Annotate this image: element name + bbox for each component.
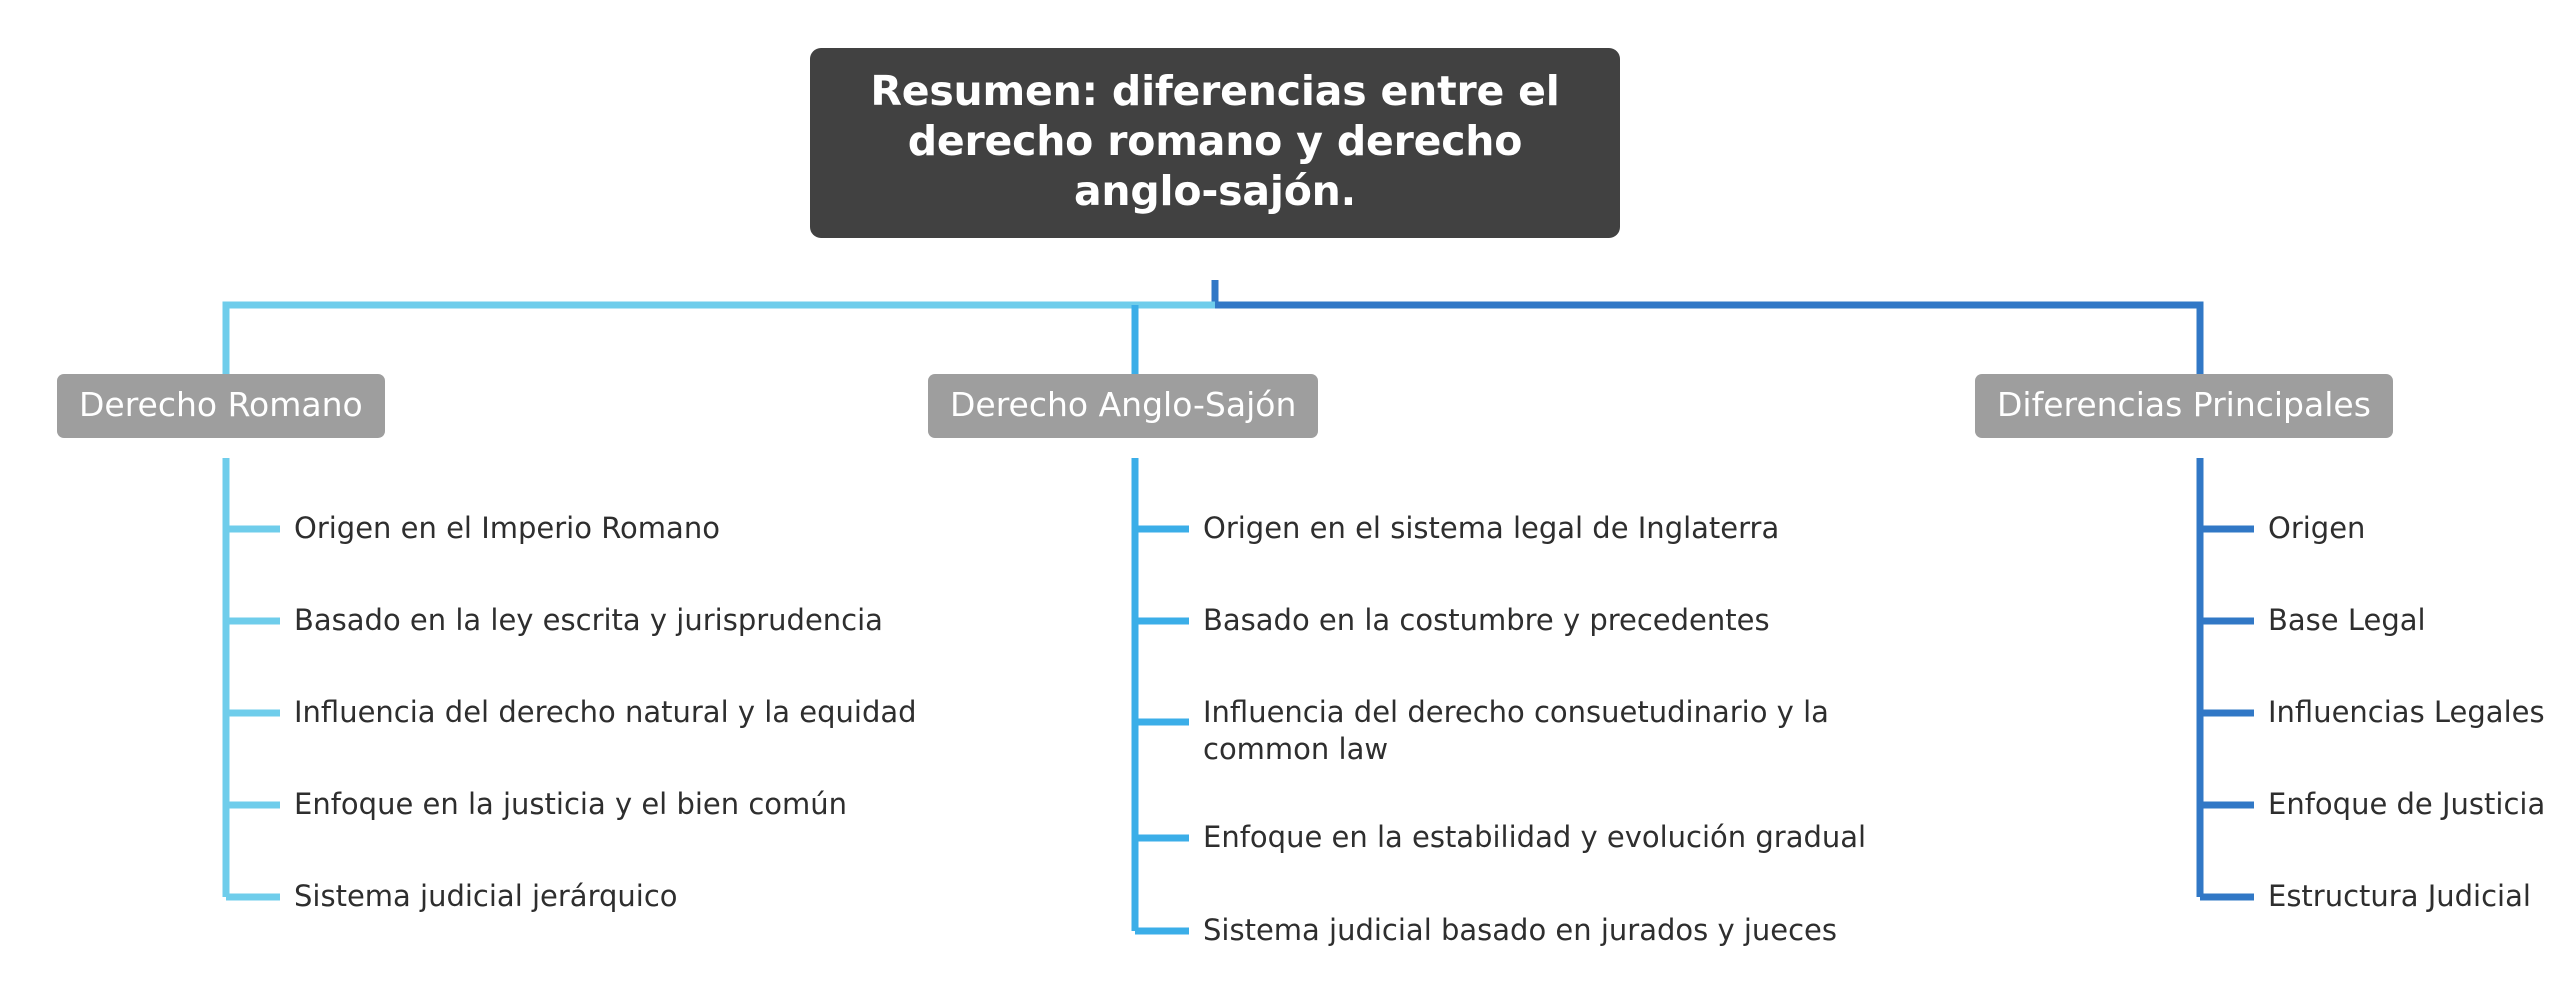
leaf-item[interactable]: Base Legal [2268, 602, 2426, 639]
bus-branch-3 [1215, 305, 2200, 374]
branch-header-derecho-romano[interactable]: Derecho Romano [57, 374, 385, 438]
leaf-item[interactable]: Origen [2268, 510, 2365, 547]
root-node[interactable]: Resumen: diferencias entre el derecho ro… [810, 48, 1620, 238]
branch-header-derecho-anglo-sajon[interactable]: Derecho Anglo-Sajón [928, 374, 1318, 438]
leaf-item[interactable]: Enfoque en la estabilidad y evolución gr… [1203, 819, 1866, 856]
leaf-item[interactable]: Influencia del derecho natural y la equi… [294, 694, 917, 731]
leaf-item[interactable]: Enfoque en la justicia y el bien común [294, 786, 847, 823]
mindmap-canvas: Resumen: diferencias entre el derecho ro… [0, 0, 2560, 1004]
root-node-line-1: Resumen: diferencias entre el [836, 66, 1594, 116]
leaf-item[interactable]: Estructura Judicial [2268, 878, 2531, 915]
root-node-line-3: anglo-sajón. [836, 166, 1594, 216]
leaf-item[interactable]: Basado en la costumbre y precedentes [1203, 602, 1770, 639]
branch-header-diferencias-principales[interactable]: Diferencias Principales [1975, 374, 2393, 438]
leaf-item[interactable]: Origen en el sistema legal de Inglaterra [1203, 510, 1779, 547]
root-node-line-2: derecho romano y derecho [836, 116, 1594, 166]
leaf-item[interactable]: Origen en el Imperio Romano [294, 510, 720, 547]
bus-branch-1 [226, 305, 1215, 374]
leaf-item[interactable]: Influencias Legales [2268, 694, 2545, 731]
leaf-item[interactable]: Enfoque de Justicia [2268, 786, 2545, 823]
leaf-item[interactable]: Sistema judicial jerárquico [294, 878, 678, 915]
leaf-item[interactable]: Sistema judicial basado en jurados y jue… [1203, 912, 1837, 949]
leaf-item[interactable]: Influencia del derecho consuetudinario y… [1203, 694, 1918, 768]
leaf-item[interactable]: Basado en la ley escrita y jurisprudenci… [294, 602, 883, 639]
